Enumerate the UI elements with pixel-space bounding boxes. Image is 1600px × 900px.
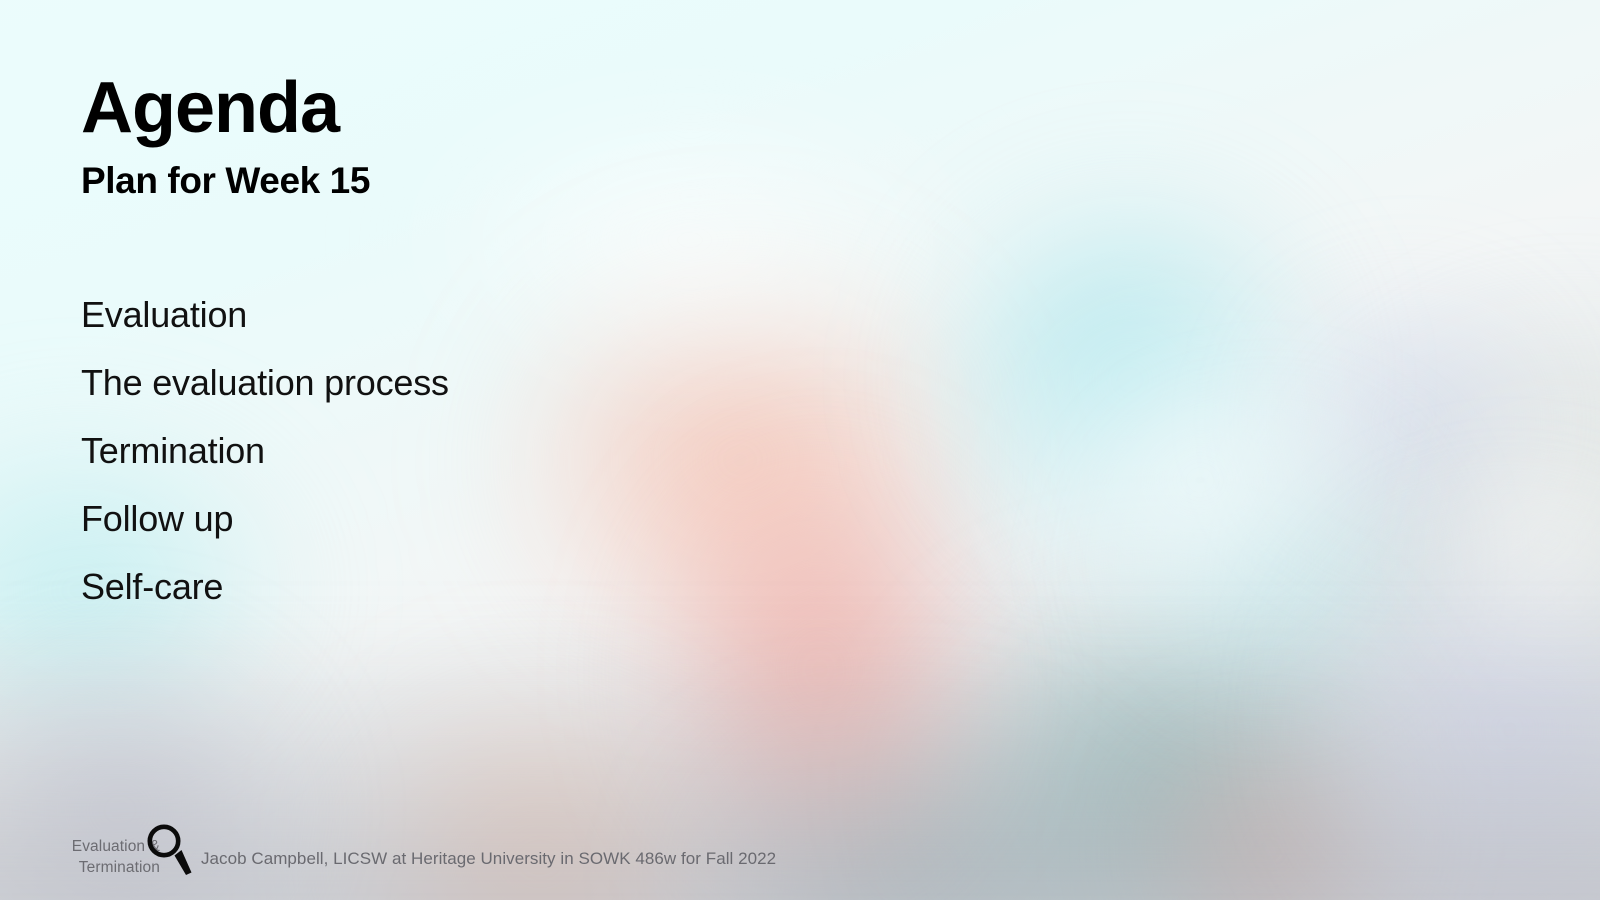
section-label: Evaluation & Termination [20,836,160,878]
section-label-line-1: Evaluation & [20,836,160,857]
slide-content: Agenda Plan for Week 15 Evaluation The e… [0,0,1600,900]
footer-credit: Jacob Campbell, LICSW at Heritage Univer… [201,849,776,869]
agenda-list-item: The evaluation process [81,349,449,417]
presentation-slide: Agenda Plan for Week 15 Evaluation The e… [0,0,1600,900]
slide-title: Agenda [81,72,370,144]
agenda-list-item: Self-care [81,553,449,621]
section-label-line-2: Termination [20,857,160,878]
agenda-list-item: Follow up [81,485,449,553]
agenda-list-item: Evaluation [81,281,449,349]
slide-subtitle: Plan for Week 15 [81,162,370,199]
agenda-list-item: Termination [81,417,449,485]
agenda-list: Evaluation The evaluation process Termin… [81,281,449,621]
title-block: Agenda Plan for Week 15 [81,72,370,199]
